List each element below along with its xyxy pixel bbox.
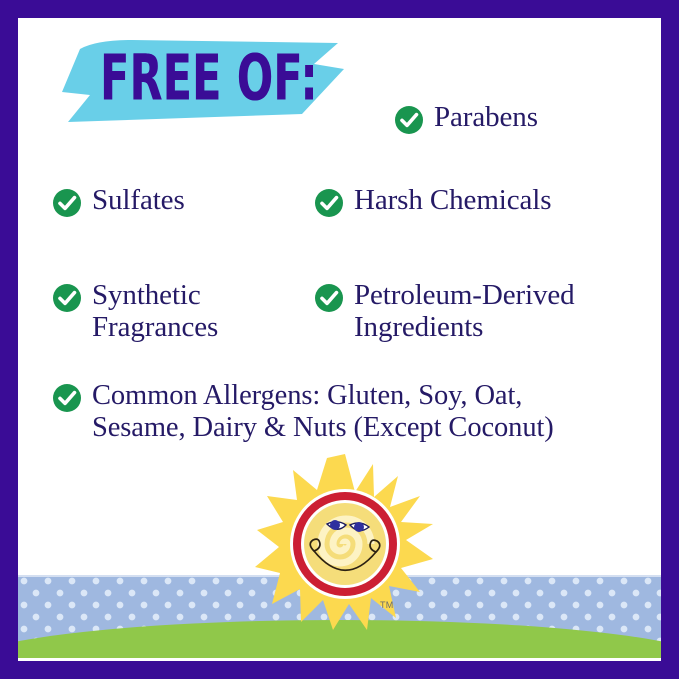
green-check-circle-icon: [52, 283, 82, 313]
smiling-sun-logo: [255, 452, 435, 632]
product-graphic-canvas: TM FREE OF: Parabens Sulf: [0, 0, 679, 679]
list-item-synthetic-fragrances: Synthetic Fragrances: [52, 280, 218, 343]
list-item-label: Synthetic Fragrances: [92, 280, 218, 343]
green-check-circle-icon: [52, 188, 82, 218]
list-item-petroleum-derived-ingredients: Petroleum-Derived Ingredients: [314, 280, 575, 343]
green-check-circle-icon: [314, 283, 344, 313]
list-item-label: Sulfates: [92, 185, 185, 217]
list-item-label: Parabens: [434, 102, 538, 134]
list-item-parabens: Parabens: [394, 102, 538, 135]
green-check-circle-icon: [394, 105, 424, 135]
trademark-mark: TM: [380, 600, 394, 610]
scene-bottom-edge: [18, 658, 661, 661]
list-item-sulfates: Sulfates: [52, 185, 185, 218]
list-item-common-allergens: Common Allergens: Gluten, Soy, Oat, Sesa…: [52, 380, 554, 444]
list-item-harsh-chemicals: Harsh Chemicals: [314, 185, 551, 218]
list-item-label: Common Allergens: Gluten, Soy, Oat, Sesa…: [92, 380, 554, 444]
list-item-label: Harsh Chemicals: [354, 185, 551, 217]
list-item-label: Petroleum-Derived Ingredients: [354, 280, 575, 343]
green-check-circle-icon: [52, 383, 82, 413]
green-check-circle-icon: [314, 188, 344, 218]
